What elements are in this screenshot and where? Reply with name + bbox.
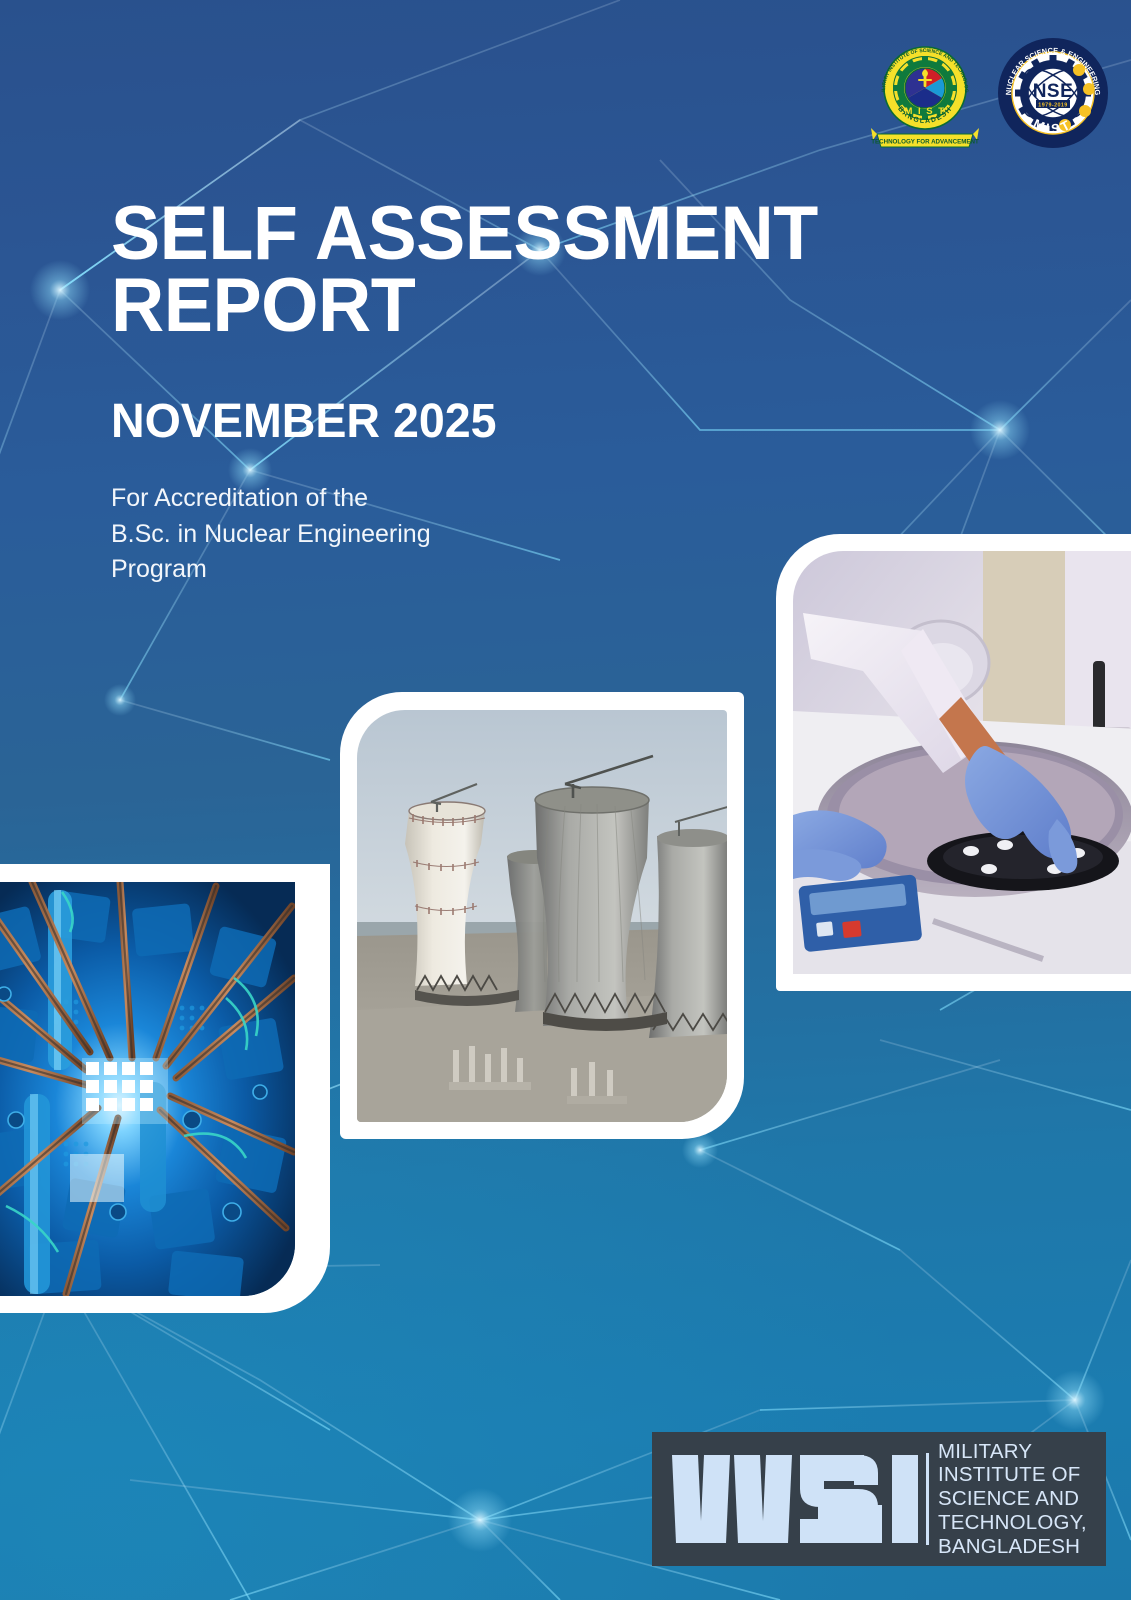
mist-wordmark-logo: MILITARY INSTITUTE OF SCIENCE AND TECHNO… <box>652 1432 1106 1566</box>
wordmark-text-block: MILITARY INSTITUTE OF SCIENCE AND TECHNO… <box>938 1440 1087 1559</box>
photo-collage <box>0 0 1131 1600</box>
wordmark-line-5: BANGLADESH <box>938 1535 1087 1559</box>
wordmark-divider <box>926 1453 929 1545</box>
reactor-core-photo <box>0 882 295 1296</box>
mist-wordmark-letters <box>668 1445 926 1553</box>
wordmark-line-1: MILITARY <box>938 1440 1087 1464</box>
cooling-towers-photo <box>357 710 727 1122</box>
laboratory-centrifuge-photo <box>793 551 1131 974</box>
wordmark-line-4: TECHNOLOGY, <box>938 1511 1087 1535</box>
wordmark-line-3: SCIENCE AND <box>938 1487 1087 1511</box>
report-cover-page: MILITARY INSTITUTE OF SCIENCE AND TECHNO… <box>0 0 1131 1600</box>
wordmark-line-2: INSTITUTE OF <box>938 1463 1087 1487</box>
